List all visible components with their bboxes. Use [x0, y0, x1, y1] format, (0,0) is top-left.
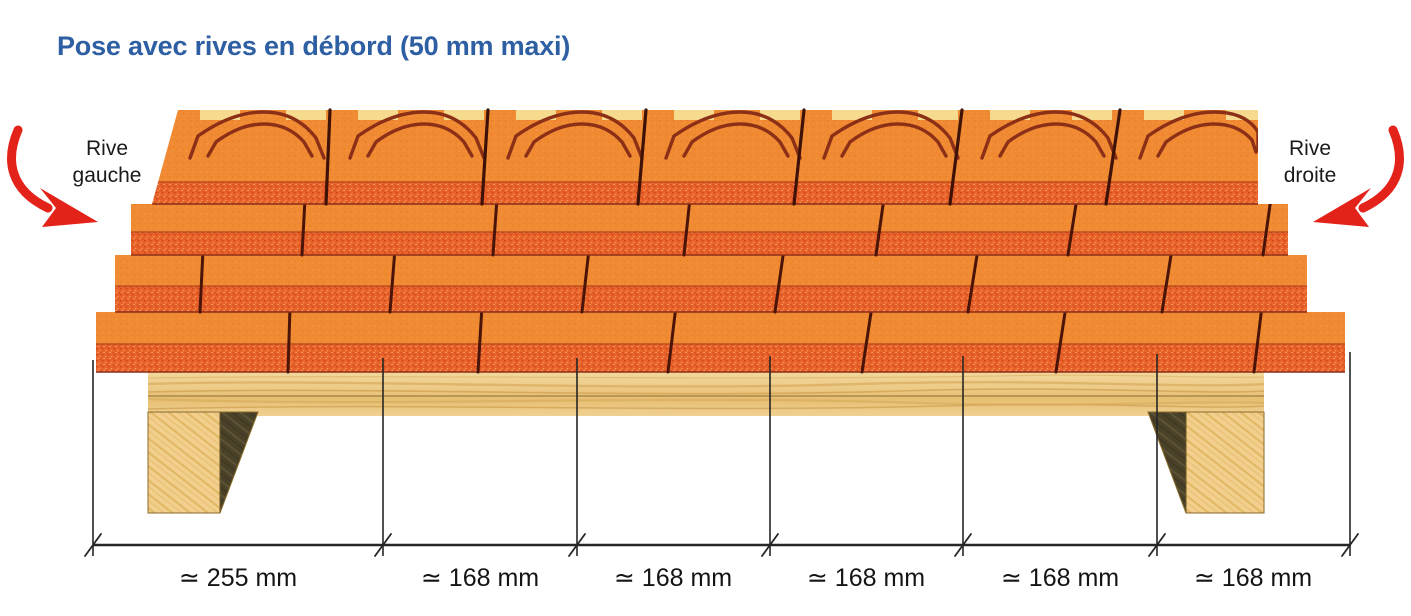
roof-illustration	[0, 0, 1411, 616]
label-rive-droite: Rive droite	[1245, 136, 1375, 190]
page-title: Pose avec rives en débord (50 mm maxi)	[57, 31, 570, 62]
tile-course-3	[115, 249, 1307, 312]
dimension-label: ≃ 168 mm	[563, 563, 783, 593]
label-rive-gauche-line1: Rive	[42, 136, 172, 163]
dimension-label: ≃ 168 mm	[370, 563, 590, 593]
tile-course-2	[131, 198, 1288, 255]
label-rive-gauche-line2: gauche	[42, 163, 172, 190]
label-rive-droite-line2: droite	[1245, 163, 1375, 190]
dimension-label: ≃ 168 mm	[1143, 563, 1363, 593]
label-rive-droite-line1: Rive	[1245, 136, 1375, 163]
dimension-label: ≃ 255 mm	[128, 563, 348, 593]
illustration-stage: Pose avec rives en débord (50 mm maxi) R…	[0, 0, 1411, 616]
rafter-left	[148, 412, 258, 513]
dimension-label: ≃ 168 mm	[950, 563, 1170, 593]
dimension-label: ≃ 168 mm	[756, 563, 976, 593]
label-rive-gauche: Rive gauche	[42, 136, 172, 190]
tile-course-1	[131, 110, 1258, 204]
wood-batten	[148, 372, 1264, 416]
rafter-right	[1148, 412, 1264, 513]
